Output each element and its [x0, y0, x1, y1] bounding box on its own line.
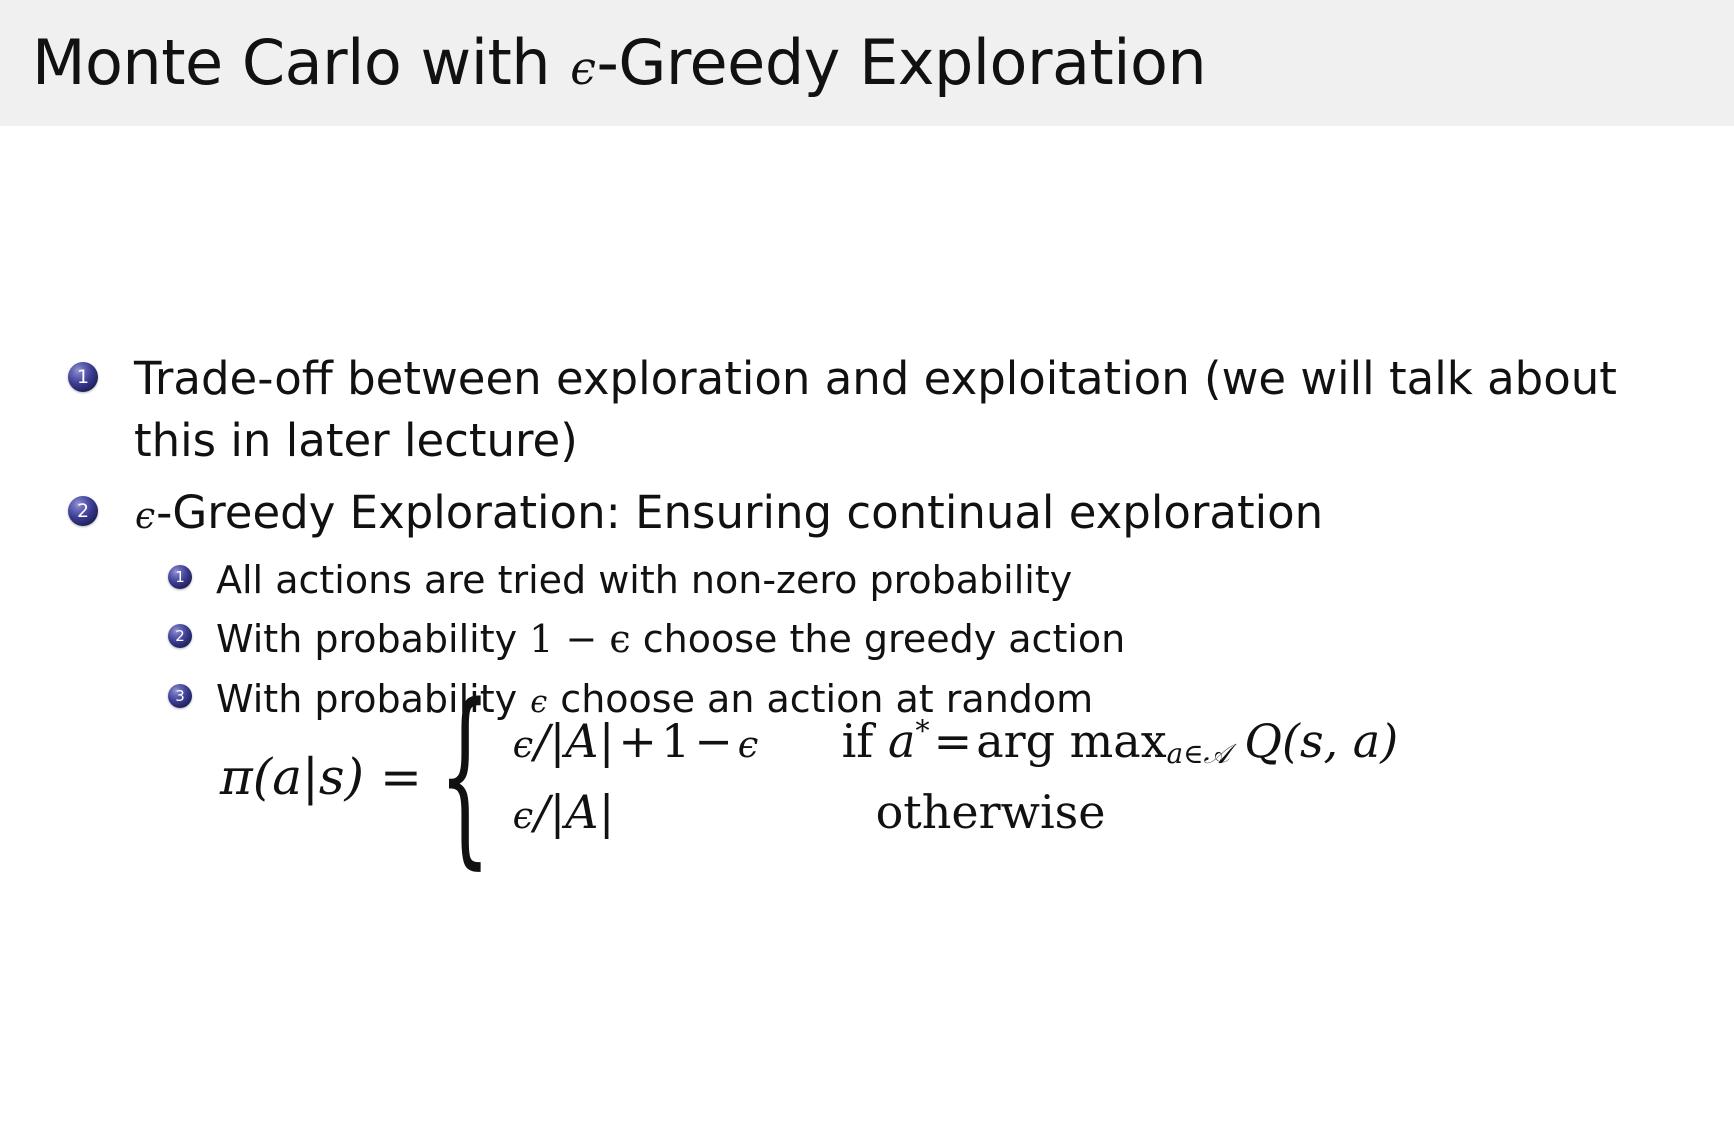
case-condition: if a*=arg maxa∈𝒜 Q(s, a) [842, 714, 1399, 771]
numbered-ball-bullet-icon: 1 [68, 362, 98, 392]
argmax-subscript: a∈𝒜 [1167, 737, 1230, 770]
slide-body: 1 Trade-off between exploration and expl… [0, 126, 1734, 1126]
calligraphic-a: A [565, 714, 599, 768]
cases-brace-icon: { [439, 681, 491, 872]
slash: / [534, 785, 550, 839]
equation-inner: π(a|s) = { ϵ/|A|+1−ϵ if a*=arg maxa∈𝒜 Q(… [220, 714, 1398, 839]
abs-bar-close: | [599, 785, 615, 839]
bullet-marker-wrap: 2 [168, 613, 216, 648]
bullet-marker-wrap: 2 [68, 482, 134, 526]
slash: / [534, 714, 550, 768]
list-item-text: Trade-off between exploration and exploi… [134, 348, 1634, 472]
sub-outline-list: 1 All actions are tried with non-zero pr… [168, 554, 1698, 726]
case-condition: otherwise [842, 785, 1106, 839]
epsilon-symbol: ϵ [737, 723, 760, 766]
sub-list-item-text: All actions are tried with non-zero prob… [216, 554, 1698, 607]
list-item: 2 ϵ-Greedy Exploration: Ensuring continu… [68, 482, 1698, 544]
calligraphic-a: A [565, 785, 599, 839]
sub-item-suffix: choose the greedy action [631, 617, 1126, 661]
case-value: ϵ/|A|+1−ϵ [512, 714, 842, 768]
equals-sign: = [930, 714, 977, 768]
epsilon-symbol-title: ϵ [569, 41, 596, 95]
list-item: 1 Trade-off between exploration and expl… [68, 348, 1698, 472]
action-variable: a [888, 714, 915, 768]
outline-list: 1 Trade-off between exploration and expl… [68, 348, 1698, 732]
epsilon-symbol: ϵ [134, 496, 156, 537]
list-item-text-rest: -Greedy Exploration: Ensuring continual … [156, 486, 1323, 539]
list-item-text: ϵ-Greedy Exploration: Ensuring continual… [134, 482, 1634, 544]
abs-bar-open: | [550, 714, 566, 768]
policy-equation: π(a|s) = { ϵ/|A|+1−ϵ if a*=arg maxa∈𝒜 Q(… [0, 714, 1734, 839]
case-value: ϵ/|A| [512, 785, 842, 839]
slide-title-bar: Monte Carlo with ϵ-Greedy Exploration [0, 0, 1734, 126]
sub-list-item: 1 All actions are tried with non-zero pr… [168, 554, 1698, 607]
title-prefix: Monte Carlo with [32, 26, 569, 99]
epsilon-symbol: ϵ [512, 794, 535, 837]
title-suffix: -Greedy Exploration [596, 26, 1206, 99]
sub-item-math: 1 − ϵ [529, 617, 630, 661]
numbered-ball-bullet-icon: 3 [168, 684, 192, 708]
numbered-ball-bullet-icon: 1 [168, 565, 192, 589]
numbered-ball-bullet-icon: 2 [168, 624, 192, 648]
equation-equals-sign: = [370, 748, 438, 806]
argmax-operator: arg max [976, 714, 1166, 768]
sub-list-item-text: With probability 1 − ϵ choose the greedy… [216, 613, 1698, 666]
if-keyword: if [842, 714, 874, 768]
one-literal: 1 [661, 714, 690, 768]
bullet-marker-wrap: 1 [68, 348, 134, 392]
abs-bar-close: | [599, 714, 615, 768]
slide: Monte Carlo with ϵ-Greedy Exploration 1 … [0, 0, 1734, 1126]
case-row: ϵ/|A|+1−ϵ if a*=arg maxa∈𝒜 Q(s, a) [512, 714, 1399, 771]
bullet-marker-wrap: 1 [168, 554, 216, 589]
epsilon-symbol: ϵ [512, 723, 535, 766]
sub-item-prefix: With probability [216, 617, 529, 661]
page-title: Monte Carlo with ϵ-Greedy Exploration [32, 32, 1206, 94]
star-superscript: * [915, 715, 929, 748]
abs-bar-open: | [550, 785, 566, 839]
numbered-ball-bullet-icon: 2 [68, 496, 98, 526]
minus-sign: − [690, 714, 737, 768]
q-function: Q(s, a) [1244, 714, 1398, 768]
plus-sign: + [614, 714, 661, 768]
cases-block: ϵ/|A|+1−ϵ if a*=arg maxa∈𝒜 Q(s, a) ϵ/|A|… [512, 714, 1399, 839]
sub-list-item: 2 With probability 1 − ϵ choose the gree… [168, 613, 1698, 666]
equation-lhs: π(a|s) [220, 748, 370, 806]
case-row: ϵ/|A| otherwise [512, 785, 1399, 839]
bullet-marker-wrap: 3 [168, 673, 216, 708]
